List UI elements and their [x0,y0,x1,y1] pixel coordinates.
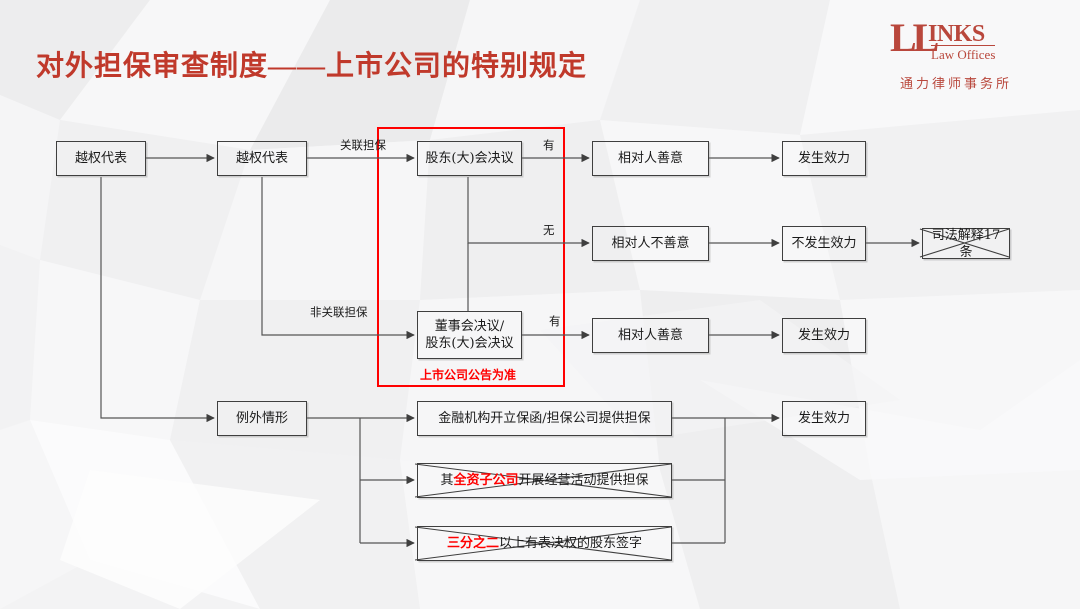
node-label: 越权代表 [57,150,145,167]
logo-mark: LL INKS Law Offices [890,20,1022,64]
node-counterparty-bad-faith[interactable]: 相对人不善意 [592,226,709,261]
node-label: 股东(大)会决议 [418,150,521,167]
node-label: 三分之二以上有表决权的股东签字 [418,535,671,552]
node-exception-1[interactable]: 金融机构开立保函/担保公司提供担保 [417,401,672,436]
node-label: 司法解释17条 [923,227,1009,261]
node-effective-3[interactable]: 发生效力 [782,401,866,436]
edge-label-has-2: 有 [549,313,561,329]
node-label: 相对人善意 [593,150,708,167]
node-label: 例外情形 [218,410,306,427]
node-label: 发生效力 [783,150,865,167]
node-counterparty-good-faith-2[interactable]: 相对人善意 [592,318,709,353]
logo-tagline: Law Offices [931,45,995,61]
node-judicial-interpretation[interactable]: 司法解释17条 [922,228,1010,259]
node-label: 越权代表 [218,150,306,167]
slide-canvas: 对外担保审查制度——上市公司的特别规定 LL INKS Law Offices … [0,0,1080,609]
logo-chinese-name: 通力律师事务所 [890,73,1022,92]
node-start-2[interactable]: 越权代表 [217,141,307,176]
exception-2-prefix: 其 [440,473,453,488]
exception-2-highlight: 全资子公司 [453,473,518,488]
exception-3-highlight: 三分之二 [447,536,499,551]
exception-3-suffix: 以上有表决权的股东签字 [499,536,642,551]
highlight-frame-caption: 上市公司公告为准 [420,366,516,383]
node-label: 其全资子公司开展经营活动提供担保 [418,472,671,489]
logo-inks-text: INKS [928,22,985,46]
node-board-or-shareholder-resolution[interactable]: 董事会决议/ 股东(大)会决议 [417,311,522,359]
node-exception-2[interactable]: 其全资子公司开展经营活动提供担保 [417,463,672,498]
node-start-1[interactable]: 越权代表 [56,141,146,176]
node-exception-3[interactable]: 三分之二以上有表决权的股东签字 [417,526,672,561]
edge-label-has-1: 有 [543,137,555,153]
node-label: 不发生效力 [783,235,865,252]
node-exception-cases[interactable]: 例外情形 [217,401,307,436]
node-effective-1[interactable]: 发生效力 [782,141,866,176]
node-label: 相对人善意 [593,327,708,344]
node-label: 发生效力 [783,327,865,344]
node-counterparty-good-faith-1[interactable]: 相对人善意 [592,141,709,176]
strikeout-marks [415,229,1009,560]
company-logo: LL INKS Law Offices 通力律师事务所 [890,20,1022,92]
node-label: 金融机构开立保函/担保公司提供担保 [418,410,671,427]
edge-label-non-related-guarantee: 非关联担保 [310,304,368,320]
node-label-line1: 董事会决议/ [435,318,504,335]
node-shareholder-resolution[interactable]: 股东(大)会决议 [417,141,522,176]
node-label: 发生效力 [783,410,865,427]
exception-2-suffix: 开展经营活动提供担保 [519,473,649,488]
edge-label-none: 无 [543,222,555,238]
node-effective-2[interactable]: 发生效力 [782,318,866,353]
node-label: 相对人不善意 [593,235,708,252]
page-title: 对外担保审查制度——上市公司的特别规定 [36,44,587,84]
node-label-line2: 股东(大)会决议 [425,335,513,352]
edge-label-related-guarantee: 关联担保 [340,137,386,153]
node-not-effective[interactable]: 不发生效力 [782,226,866,261]
